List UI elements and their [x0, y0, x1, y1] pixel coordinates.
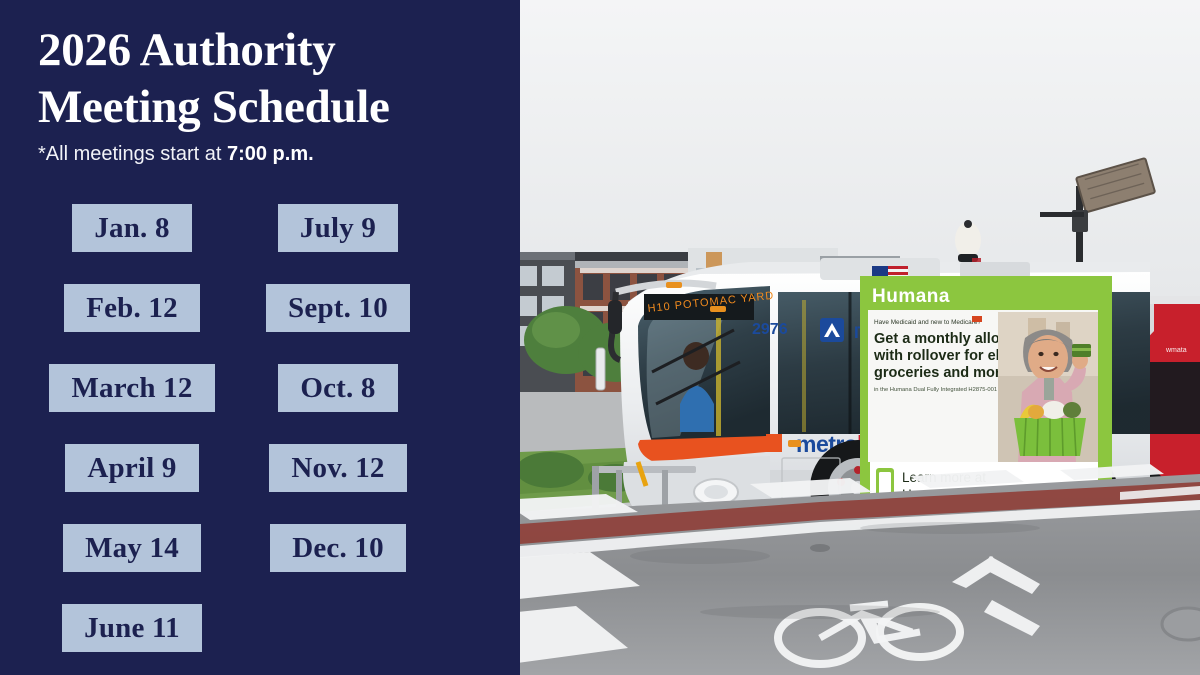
meeting-time-note-prefix: *All meetings start at [38, 143, 227, 165]
meeting-time-note: *All meetings start at 7:00 p.m. [38, 143, 314, 166]
manhole-cover [1162, 608, 1200, 640]
meeting-date-column-first-half: Jan. 8 Feb. 12 March 12 April 9 May 14 J… [22, 204, 242, 675]
schedule-graphic: 2026 Authority Meeting Schedule *All mee… [0, 0, 1200, 675]
meeting-date-column-second-half: July 9 Sept. 10 Oct. 8 Nov. 12 Dec. 10 [228, 204, 448, 604]
meeting-date-row: April 9 [22, 444, 242, 524]
meeting-date-row: Jan. 8 [22, 204, 242, 284]
meeting-date-chip-jan[interactable]: Jan. 8 [72, 204, 191, 252]
page-title-line-2: Meeting Schedule [38, 79, 498, 136]
humana-ad-eyebrow: Have Medicaid and new to Medicare? [874, 319, 981, 326]
meeting-date-row: May 14 [22, 524, 242, 604]
meeting-date-row: Sept. 10 [228, 284, 448, 364]
meeting-date-chip-april[interactable]: April 9 [65, 444, 198, 492]
meeting-date-row: July 9 [228, 204, 448, 284]
page-title-line-1: 2026 Authority [38, 22, 498, 79]
meeting-date-chip-feb[interactable]: Feb. 12 [64, 284, 200, 332]
second-bus-label: wmata [1165, 347, 1187, 354]
metro-m-logo [820, 318, 844, 342]
humana-brand-text: Humana [872, 286, 950, 307]
meeting-date-chip-july[interactable]: July 9 [278, 204, 398, 252]
meeting-date-row: Nov. 12 [228, 444, 448, 524]
meeting-date-chip-nov[interactable]: Nov. 12 [269, 444, 406, 492]
schedule-panel: 2026 Authority Meeting Schedule *All mee… [0, 0, 520, 675]
humana-ad-model-photo [998, 312, 1098, 462]
meeting-time-value: 7:00 p.m. [227, 143, 314, 165]
humana-ad-headline-3: groceries and more [874, 365, 1009, 381]
bus-fleet-number: 2976 [752, 321, 788, 338]
metrobus-photograph: wmata [520, 0, 1200, 675]
meeting-date-chip-may[interactable]: May 14 [63, 524, 201, 572]
meeting-date-row: June 11 [22, 604, 242, 675]
meeting-date-chip-march[interactable]: March 12 [49, 364, 214, 412]
meeting-date-row: Dec. 10 [228, 524, 448, 604]
meeting-date-grid: Jan. 8 Feb. 12 March 12 April 9 May 14 J… [0, 204, 520, 674]
meeting-date-row: Feb. 12 [22, 284, 242, 364]
meeting-date-chip-dec[interactable]: Dec. 10 [270, 524, 406, 572]
meeting-date-chip-sept[interactable]: Sept. 10 [266, 284, 410, 332]
page-title: 2026 Authority Meeting Schedule [38, 22, 498, 136]
meeting-date-chip-june[interactable]: June 11 [62, 604, 202, 652]
meeting-date-row: March 12 [22, 364, 242, 444]
humana-ad-fineprint: in the Humana Dual Fully Integrated H287… [874, 387, 1010, 393]
meeting-date-chip-oct[interactable]: Oct. 8 [278, 364, 397, 412]
meeting-date-row: Oct. 8 [228, 364, 448, 444]
